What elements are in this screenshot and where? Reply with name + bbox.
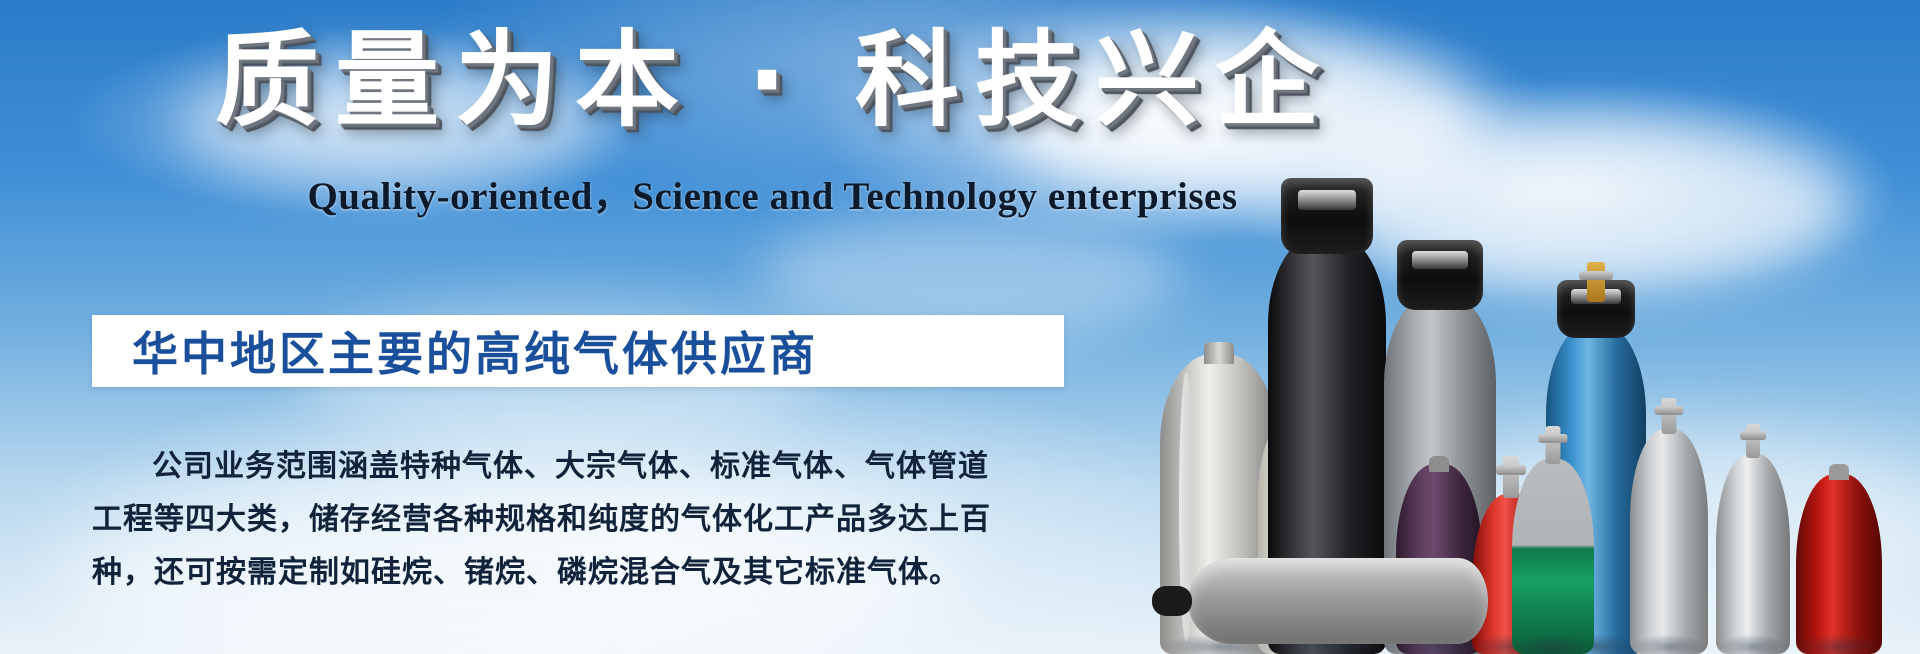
gas-cylinders-image — [1160, 154, 1920, 654]
cylinder-valve-icon — [1546, 426, 1561, 464]
aluminium-cylinder — [1630, 429, 1708, 654]
paragraph-line-1: 公司业务范围涵盖特种气体、大宗气体、标准气体、气体管道 — [92, 440, 1042, 493]
cylinder-cap-icon — [1397, 240, 1483, 310]
paragraph-line-2: 工程等四大类，储存经营各种规格和纯度的气体化工产品多达上百 — [92, 493, 1042, 546]
green-cylinder — [1512, 459, 1594, 654]
dark-red-cylinder — [1796, 474, 1882, 654]
highlight-box: 华中地区主要的高纯气体供应商 — [92, 315, 1064, 387]
aluminium-cylinder — [1716, 454, 1790, 654]
cylinder-valve-icon — [1746, 424, 1760, 458]
banner-paragraph: 公司业务范围涵盖特种气体、大宗气体、标准气体、气体管道 工程等四大类，储存经营各… — [92, 440, 1042, 599]
highlight-text: 华中地区主要的高纯气体供应商 — [92, 318, 818, 384]
cylinder-valve-brass-icon — [1587, 262, 1605, 302]
banner-headline: 质量为本 · 科技兴企 — [0, 22, 1550, 138]
cylinder-valve-icon — [1662, 398, 1677, 434]
hero-banner: 质量为本 · 科技兴企 Quality-oriented，Science and… — [0, 0, 1920, 654]
paragraph-line-3: 种，还可按需定制如硅烷、锗烷、磷烷混合气及其它标准气体。 — [92, 546, 1042, 599]
lying-cylinder — [1188, 558, 1488, 644]
cylinder-cap-icon — [1281, 178, 1373, 254]
